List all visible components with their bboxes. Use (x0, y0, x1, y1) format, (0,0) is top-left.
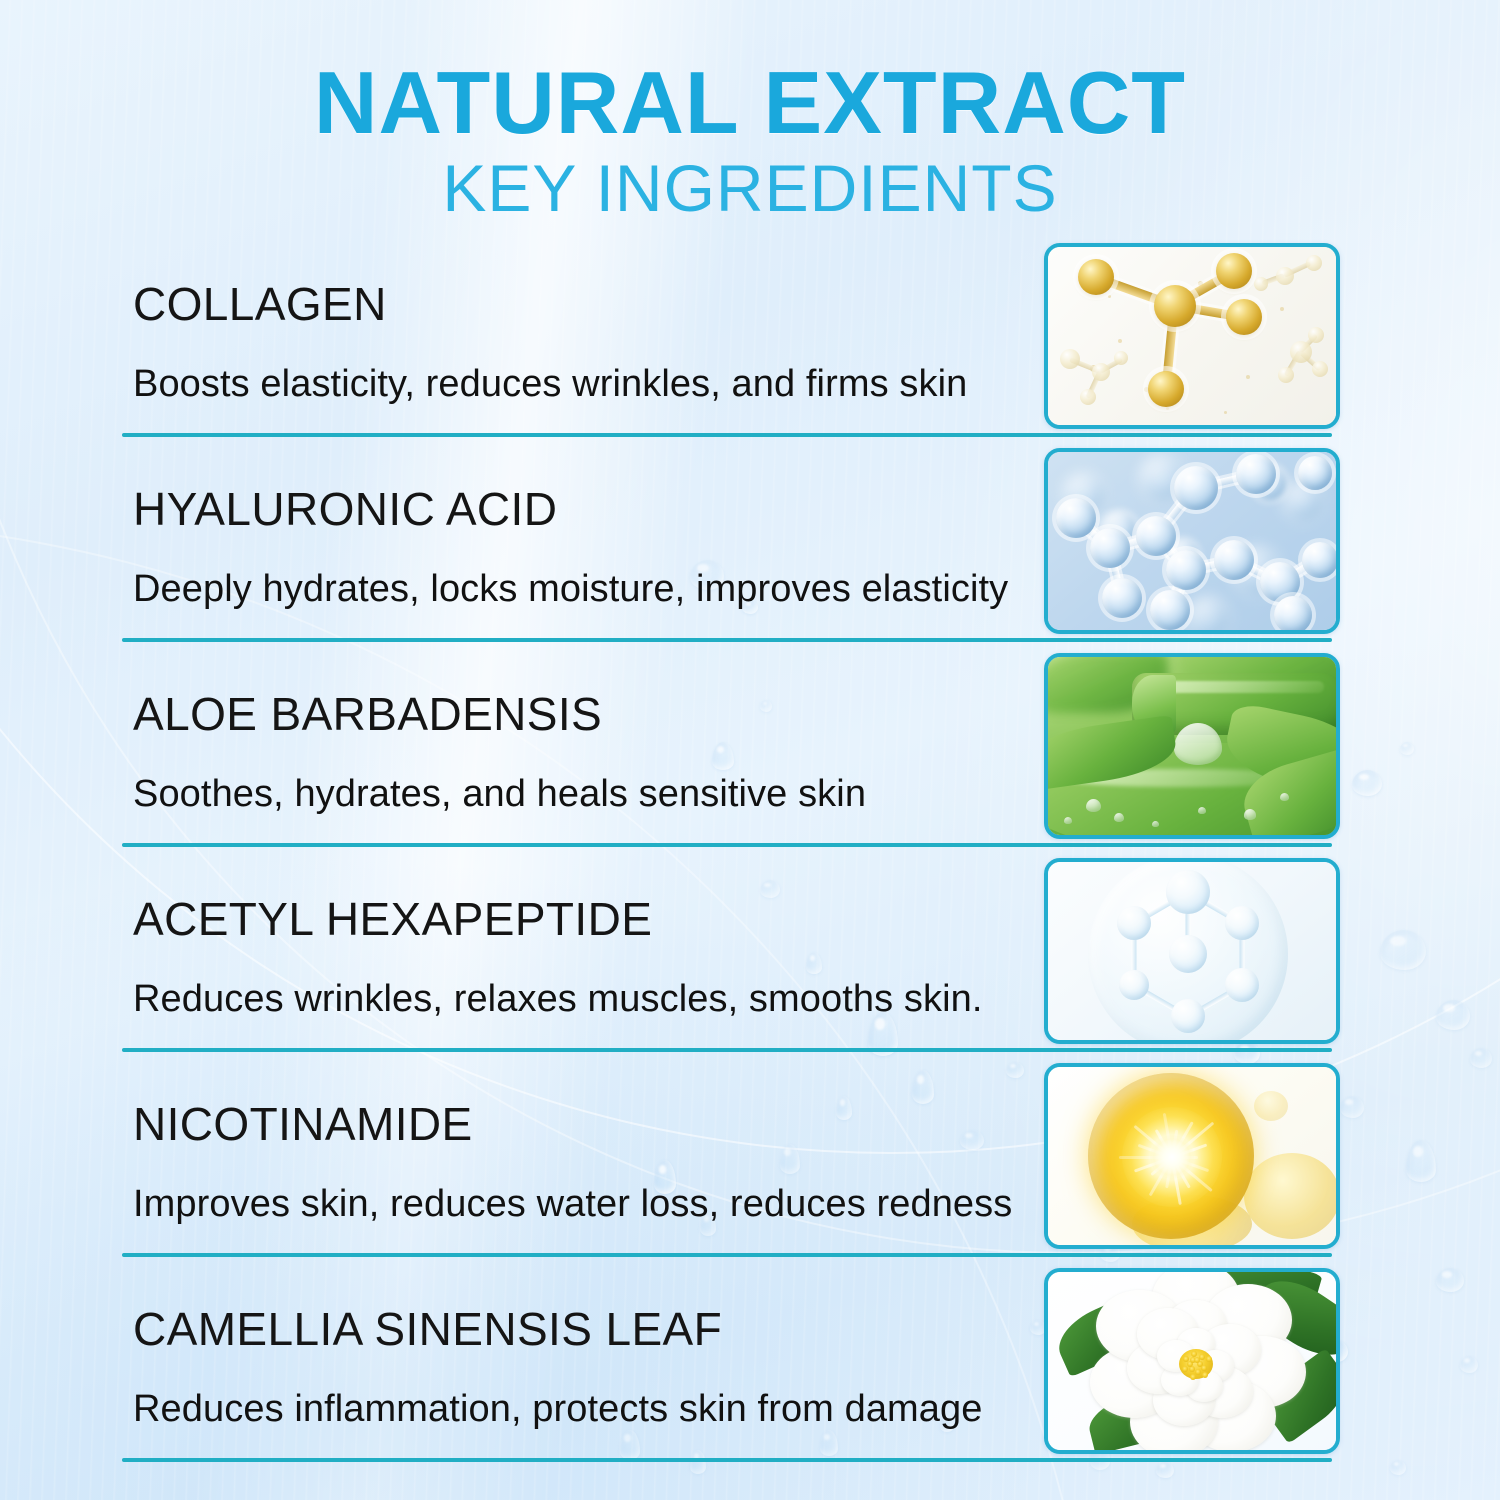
ingredient-row: NICOTINAMIDEImproves skin, reduces water… (0, 1063, 1500, 1268)
row-divider (122, 843, 1332, 847)
ingredient-list: COLLAGENBoosts elasticity, reduces wrink… (0, 243, 1500, 1473)
page-title: NATURAL EXTRACT (0, 58, 1500, 148)
ingredient-description: Soothes, hydrates, and heals sensitive s… (133, 775, 1033, 813)
ingredient-text-block: NICOTINAMIDEImproves skin, reduces water… (133, 1063, 1033, 1223)
row-divider (122, 638, 1332, 642)
row-divider (122, 1458, 1332, 1462)
ingredient-thumbnail-card (1044, 1268, 1340, 1454)
ingredient-description: Boosts elasticity, reduces wrinkles, and… (133, 365, 1033, 403)
ingredient-thumbnail-card (1044, 1063, 1340, 1249)
ingredient-name: ALOE BARBADENSIS (133, 691, 1033, 737)
ingredient-row: ACETYL HEXAPEPTIDEReduces wrinkles, rela… (0, 858, 1500, 1063)
ingredient-text-block: COLLAGENBoosts elasticity, reduces wrink… (133, 243, 1033, 403)
ingredient-text-block: ACETYL HEXAPEPTIDEReduces wrinkles, rela… (133, 858, 1033, 1018)
ingredient-description: Deeply hydrates, locks moisture, improve… (133, 570, 1033, 608)
ingredient-name: ACETYL HEXAPEPTIDE (133, 896, 1033, 942)
ingredient-row: ALOE BARBADENSISSoothes, hydrates, and h… (0, 653, 1500, 858)
ingredient-name: NICOTINAMIDE (133, 1101, 1033, 1147)
ingredient-description: Reduces wrinkles, relaxes muscles, smoot… (133, 980, 1033, 1018)
ingredient-name: COLLAGEN (133, 281, 1033, 327)
page-subtitle: KEY INGREDIENTS (0, 154, 1500, 223)
ingredient-row: CAMELLIA SINENSIS LEAFReduces inflammati… (0, 1268, 1500, 1473)
ingredient-thumbnail-card (1044, 243, 1340, 429)
ingredient-infographic-poster: NATURAL EXTRACT KEY INGREDIENTS COLLAGEN… (0, 0, 1500, 1500)
ingredient-text-block: ALOE BARBADENSISSoothes, hydrates, and h… (133, 653, 1033, 813)
ingredient-thumbnail-card (1044, 448, 1340, 634)
ingredient-name: HYALURONIC ACID (133, 486, 1033, 532)
poster-title-block: NATURAL EXTRACT KEY INGREDIENTS (0, 58, 1500, 223)
ingredient-row: COLLAGENBoosts elasticity, reduces wrink… (0, 243, 1500, 448)
ingredient-description: Reduces inflammation, protects skin from… (133, 1390, 1033, 1428)
row-divider (122, 1253, 1332, 1257)
ingredient-thumbnail-card (1044, 653, 1340, 839)
ingredient-description: Improves skin, reduces water loss, reduc… (133, 1185, 1033, 1223)
ingredient-text-block: CAMELLIA SINENSIS LEAFReduces inflammati… (133, 1268, 1033, 1428)
ingredient-name: CAMELLIA SINENSIS LEAF (133, 1306, 1033, 1352)
ingredient-thumbnail-card (1044, 858, 1340, 1044)
ingredient-row: HYALURONIC ACIDDeeply hydrates, locks mo… (0, 448, 1500, 653)
ingredient-text-block: HYALURONIC ACIDDeeply hydrates, locks mo… (133, 448, 1033, 608)
row-divider (122, 1048, 1332, 1052)
row-divider (122, 433, 1332, 437)
